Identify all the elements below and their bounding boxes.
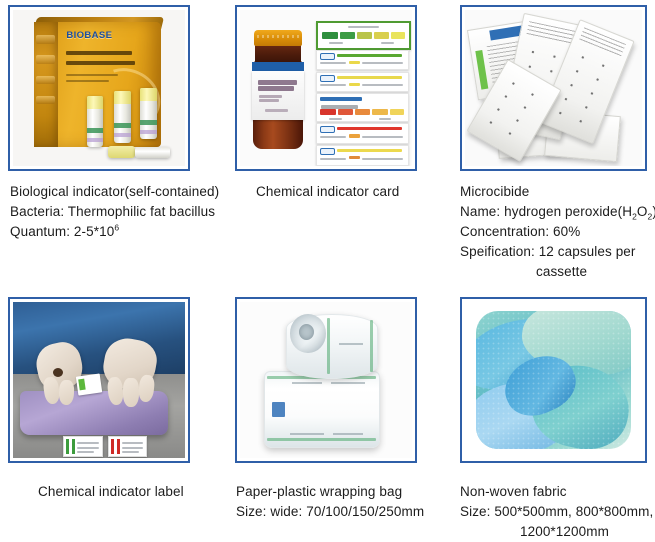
vial-cap bbox=[87, 96, 103, 109]
image-inner bbox=[465, 10, 642, 166]
wrapping-roll-bottom bbox=[264, 371, 380, 448]
indicator-vial bbox=[87, 96, 103, 147]
photo-paper-plastic-wrapping-bag bbox=[240, 302, 412, 458]
roll-seam bbox=[267, 438, 376, 441]
red-stripes bbox=[111, 439, 120, 453]
color-swatch-orange bbox=[349, 156, 360, 159]
product-grid: BIOBASE bbox=[0, 0, 655, 538]
color-bar-yellow bbox=[390, 109, 405, 115]
card-tag bbox=[320, 148, 335, 155]
product-spec-name: Name: hydrogen peroxide(H2O2) bbox=[460, 202, 655, 222]
indicator-vial bbox=[140, 88, 156, 139]
card-text bbox=[320, 84, 346, 86]
photo-biological-indicator: BIOBASE bbox=[13, 10, 185, 166]
roll-seam bbox=[370, 320, 373, 371]
product-image-chemical-indicator-card[interactable] bbox=[235, 5, 417, 171]
color-bar-yellow bbox=[374, 32, 389, 38]
indicator-label-red bbox=[108, 436, 148, 457]
vial-cap bbox=[140, 88, 156, 101]
card-caption-text bbox=[381, 42, 394, 44]
image-frame bbox=[460, 5, 647, 171]
caption-biological-indicator: Biological indicator(self-contained) Bac… bbox=[10, 182, 225, 242]
product-spec-size: Size: wide: 70/100/150/250mm bbox=[236, 502, 451, 522]
product-spec-specification: Speification: 12 capsules per bbox=[460, 242, 655, 262]
indicator-card-green bbox=[316, 21, 411, 50]
product-spec-bacteria: Bacteria: Thermophilic fat bacillus bbox=[10, 202, 225, 222]
product-spec-quantum: Quantum: 2-5*106 bbox=[10, 222, 225, 242]
color-bar-orange bbox=[355, 109, 370, 115]
roll-print-text bbox=[292, 382, 322, 384]
image-inner bbox=[465, 302, 642, 458]
image-inner bbox=[240, 302, 412, 458]
green-stripes bbox=[66, 439, 75, 453]
card-text bbox=[320, 158, 346, 160]
product-title: Chemical indicator label bbox=[10, 482, 225, 502]
indicator-strip-card bbox=[316, 145, 409, 166]
product-image-biological-indicator[interactable]: BIOBASE bbox=[8, 5, 190, 171]
caption-chemical-indicator-card: Chemical indicator card bbox=[228, 182, 448, 202]
photo-non-woven-fabric bbox=[465, 302, 642, 458]
image-frame: BIOBASE bbox=[8, 5, 190, 171]
card-text bbox=[320, 62, 346, 64]
product-spec-specification-cont: cassette bbox=[460, 262, 655, 282]
image-inner bbox=[13, 302, 185, 458]
roll-print-text bbox=[339, 343, 362, 345]
indicator-vial-lying bbox=[135, 147, 169, 158]
label-text bbox=[77, 442, 98, 444]
caption-paper-plastic-wrapping-bag: Paper-plastic wrapping bag Size: wide: 7… bbox=[236, 482, 451, 522]
image-inner bbox=[240, 10, 412, 166]
indicator-strip-card bbox=[316, 72, 409, 93]
quantum-exponent: 6 bbox=[114, 223, 119, 233]
glove-thumb-shadow bbox=[53, 368, 63, 377]
card-caption-text bbox=[329, 118, 342, 120]
color-bar-yellow bbox=[337, 149, 403, 152]
product-title: Non-woven fabric bbox=[460, 482, 655, 502]
card-text bbox=[362, 158, 403, 160]
photo-microcibide bbox=[465, 10, 642, 166]
glove-finger bbox=[123, 378, 138, 406]
carton-text-line bbox=[66, 74, 118, 76]
label-text bbox=[122, 451, 139, 453]
card-title-text bbox=[348, 26, 379, 28]
carton-text-line bbox=[66, 61, 135, 65]
indicator-label-green bbox=[63, 436, 103, 457]
bottle-label-text bbox=[258, 86, 294, 91]
carton-rib bbox=[36, 55, 55, 64]
quantum-text: Quantum: 2-5*10 bbox=[10, 224, 114, 239]
indicator-vial bbox=[114, 91, 130, 142]
vial-band bbox=[114, 123, 130, 128]
indicator-label-sticker bbox=[75, 374, 101, 396]
strip-text bbox=[526, 21, 576, 46]
caption-chemical-indicator-label: Chemical indicator label bbox=[10, 482, 225, 502]
indicator-strip-card bbox=[316, 123, 409, 144]
image-frame bbox=[460, 297, 647, 463]
card-text bbox=[362, 136, 403, 138]
card-tag bbox=[320, 75, 335, 82]
vial-band bbox=[87, 138, 103, 142]
card-tag bbox=[320, 53, 335, 60]
card-text bbox=[320, 136, 346, 138]
indicator-strip-card bbox=[316, 50, 409, 71]
roll-print-text bbox=[333, 433, 363, 435]
label-text bbox=[122, 447, 143, 449]
roll-print-text bbox=[331, 382, 365, 384]
product-title: Chemical indicator card bbox=[228, 182, 448, 202]
product-title: Biological indicator(self-contained) bbox=[10, 182, 225, 202]
product-spec-size: Size: 500*500mm, 800*800mm, bbox=[460, 502, 655, 522]
color-bar-olive bbox=[357, 32, 372, 38]
vial-band bbox=[140, 120, 156, 125]
card-tag bbox=[320, 126, 335, 133]
card-text bbox=[362, 84, 403, 86]
bottle-label-text bbox=[259, 99, 279, 102]
product-image-chemical-indicator-label[interactable] bbox=[8, 297, 190, 463]
vial-band bbox=[87, 128, 103, 133]
image-inner: BIOBASE bbox=[13, 10, 185, 166]
vial-band bbox=[140, 130, 156, 134]
sticker-green-mark bbox=[78, 379, 85, 391]
product-title: Paper-plastic wrapping bag bbox=[236, 482, 451, 502]
bottle-neck bbox=[255, 44, 300, 63]
wrapping-roll-top bbox=[286, 314, 377, 378]
card-text bbox=[362, 62, 403, 64]
color-bar-yellow bbox=[337, 76, 403, 79]
product-image-non-woven-fabric[interactable] bbox=[460, 297, 647, 463]
product-title: Microcibide bbox=[460, 182, 655, 202]
carton-rib bbox=[36, 35, 55, 44]
indicator-card-plasma bbox=[316, 93, 409, 122]
carton-rib bbox=[36, 96, 55, 105]
card-caption-text bbox=[329, 42, 344, 44]
label-text bbox=[77, 451, 94, 453]
color-swatch-yellow bbox=[349, 61, 360, 64]
color-bar-red bbox=[320, 109, 335, 115]
vial-band bbox=[114, 133, 130, 137]
color-bar-blue bbox=[320, 97, 362, 101]
roll-seam bbox=[327, 318, 330, 374]
label-text bbox=[122, 442, 143, 444]
bottle-label-text bbox=[259, 95, 282, 98]
photo-chemical-indicator-card bbox=[240, 10, 412, 166]
photo-chemical-indicator-label bbox=[13, 302, 185, 458]
non-woven-sheet bbox=[476, 311, 632, 448]
name-text-mid: O bbox=[637, 204, 648, 219]
fabric-texture bbox=[476, 311, 632, 448]
roll-blue-mark bbox=[272, 402, 286, 417]
card-caption-text bbox=[379, 118, 392, 120]
brand-logo-text: BIOBASE bbox=[66, 30, 112, 41]
product-image-paper-plastic-wrapping-bag[interactable] bbox=[235, 297, 417, 463]
bottle-cap bbox=[254, 30, 301, 45]
image-frame bbox=[235, 297, 417, 463]
card-title-text bbox=[321, 105, 357, 109]
label-text bbox=[77, 447, 98, 449]
carton-rib bbox=[36, 76, 55, 85]
color-bar-red bbox=[338, 109, 353, 115]
product-image-microcibide[interactable] bbox=[460, 5, 647, 171]
color-swatch-yellow bbox=[349, 83, 360, 86]
color-bar-red bbox=[337, 127, 403, 130]
bottle-label bbox=[252, 71, 304, 121]
vial-cap bbox=[114, 91, 130, 104]
bottle-label-text bbox=[265, 109, 288, 112]
carton-text-line bbox=[66, 51, 131, 55]
color-bar-green bbox=[340, 32, 355, 38]
caption-non-woven-fabric: Non-woven fabric Size: 500*500mm, 800*80… bbox=[460, 482, 655, 542]
color-bar-green bbox=[337, 54, 403, 57]
caption-microcibide: Microcibide Name: hydrogen peroxide(H2O2… bbox=[460, 182, 655, 282]
product-spec-concentration: Concentration: 60% bbox=[460, 222, 655, 242]
color-bar-yellow bbox=[391, 32, 406, 38]
color-bar-green bbox=[322, 32, 337, 38]
carton-text-line bbox=[66, 80, 109, 82]
color-swatch-orange bbox=[349, 134, 360, 137]
roll-print-text bbox=[290, 433, 324, 435]
bottle-label-text bbox=[258, 80, 297, 85]
image-frame bbox=[235, 5, 417, 171]
indicator-vial-lying bbox=[108, 146, 136, 158]
indicator-bottle bbox=[252, 30, 304, 149]
product-spec-size-cont: 1200*1200mm bbox=[460, 522, 655, 542]
name-text-before: Name: hydrogen peroxide(H bbox=[460, 204, 632, 219]
image-frame bbox=[8, 297, 190, 463]
color-bar-orange bbox=[372, 109, 387, 115]
